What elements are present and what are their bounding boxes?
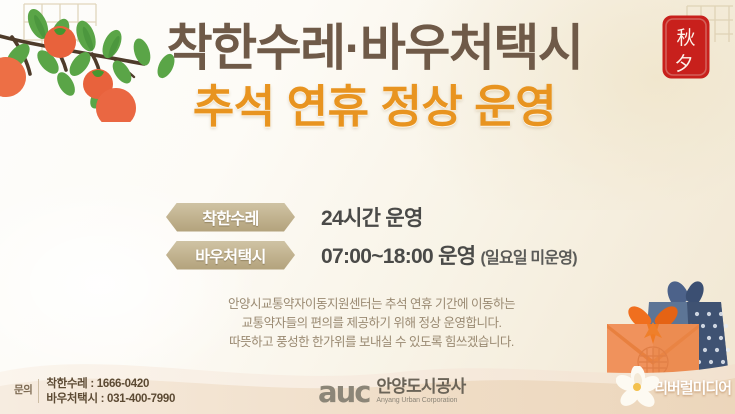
auc-logo-mark: auc <box>318 379 369 406</box>
service-row-chakhan-sure: 착한수레 24시간 운영 <box>0 198 735 236</box>
service-hours-chakhan-sure: 24시간 운영 <box>321 202 423 232</box>
service-row-voucher-taxi: 바우처택시 07:00~18:00 운영 (일요일 미운영) <box>0 236 735 274</box>
body-line-1: 안양시교통약자이동지원센터는 추석 연휴 기간에 이동하는 <box>8 295 735 314</box>
auc-logo: auc 안양도시공사 Anyang Urban Corporation <box>318 378 465 406</box>
service-hours-value: 07:00~18:00 운영 <box>321 245 475 268</box>
banner-title-sub: 추석 연휴 정상 운영 <box>14 82 735 132</box>
body-paragraph: 안양시교통약자이동지원센터는 추석 연휴 기간에 이동하는 교통약자들의 편의를… <box>0 295 735 352</box>
chuseok-holiday-service-banner: 秋 夕 착한수레·바우처택시 추석 연휴 정상 운영 착한수레 24시간 운영 … <box>0 0 735 414</box>
service-hours-voucher-taxi: 07:00~18:00 운영 (일요일 미운영) <box>321 240 577 270</box>
auc-logo-name-en: Anyang Urban Corporation <box>376 396 465 405</box>
contact-phone-voucher-taxi: 바우처택시 : 031-400-7990 <box>46 392 175 407</box>
flower-icon <box>616 366 660 408</box>
contact-phone-list: 착한수레 : 1666-0420 바우처택시 : 031-400-7990 <box>46 377 175 407</box>
auc-logo-name-kr: 안양도시공사 <box>376 378 465 396</box>
footer: 문의 착한수레 : 1666-0420 바우처택시 : 031-400-7990… <box>0 366 735 414</box>
body-line-2: 교통약자들의 편의를 제공하기 위해 정상 운영합니다. <box>8 314 735 333</box>
media-credit-badge: 리버럴미디어 <box>616 366 735 408</box>
contact-phone-chakhan-sure: 착한수레 : 1666-0420 <box>46 377 175 392</box>
title-block: 착한수레·바우처택시 추석 연휴 정상 운영 <box>0 22 735 132</box>
contact-label: 문의 <box>14 382 32 397</box>
service-badge-label: 착한수레 <box>202 205 258 229</box>
auc-logo-wordmark: 안양도시공사 Anyang Urban Corporation <box>376 378 465 406</box>
media-credit-label: 리버럴미디어 <box>654 377 735 398</box>
service-badge-label: 바우처택시 <box>195 243 266 267</box>
service-hours-note: (일요일 미운영) <box>481 250 577 267</box>
service-badge-chakhan-sure: 착한수레 <box>166 203 295 232</box>
body-line-3: 따뜻하고 풍성한 한가위를 보내실 수 있도록 힘쓰겠습니다. <box>8 333 735 352</box>
contact-divider <box>38 379 39 403</box>
contact-block: 문의 착한수레 : 1666-0420 바우처택시 : 031-400-7990 <box>14 377 175 407</box>
service-badge-voucher-taxi: 바우처택시 <box>166 241 295 270</box>
banner-title-main: 착한수레·바우처택시 <box>14 22 735 75</box>
service-hours-list: 착한수레 24시간 운영 바우처택시 07:00~18:00 운영 (일요일 미… <box>0 198 735 274</box>
